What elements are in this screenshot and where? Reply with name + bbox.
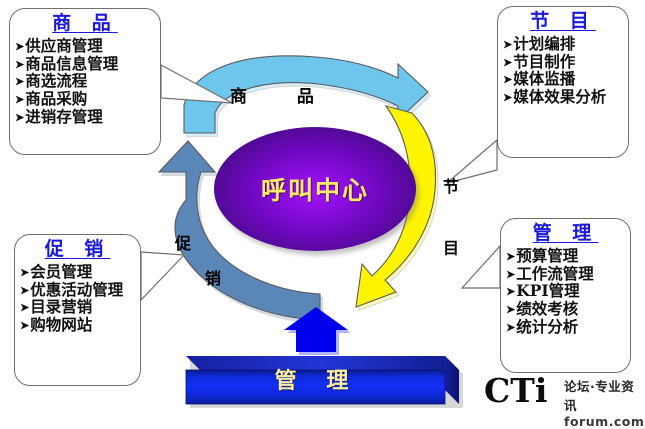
list-item: 目录营销 — [20, 298, 138, 316]
list-item: 商选流程 — [15, 72, 158, 90]
list-item: 媒体监播 — [503, 70, 626, 88]
promotion-arrow-label-1: 促 — [175, 230, 191, 254]
list-item: 计划编排 — [503, 35, 626, 53]
programs-callout-list: 计划编排 节目制作 媒体监播 媒体效果分析 — [498, 35, 628, 106]
management-callout-tail[interactable] — [462, 246, 500, 288]
programs-callout-tail[interactable] — [447, 140, 497, 183]
list-item: 预算管理 — [506, 247, 628, 265]
promotion-callout-title: 促 销 — [15, 239, 140, 261]
products-callout-title: 商 品 — [10, 13, 160, 35]
programs-callout[interactable]: 节 目 计划编排 节目制作 媒体监播 媒体效果分析 — [497, 6, 629, 158]
list-item: KPI管理 — [506, 282, 628, 300]
list-item: 工作流管理 — [506, 265, 628, 283]
management-callout[interactable]: 管 理 预算管理 工作流管理 KPI管理 绩效考核 统计分析 — [500, 218, 631, 373]
management-callout-title: 管 理 — [501, 223, 630, 245]
programs-callout-title: 节 目 — [498, 11, 628, 33]
list-item: 商品采购 — [15, 90, 158, 108]
list-item: 优惠活动管理 — [20, 281, 138, 299]
products-callout[interactable]: 商 品 供应商管理 商品信息管理 商选流程 商品采购 进销存管理 — [9, 8, 161, 155]
list-item: 节目制作 — [503, 53, 626, 71]
watermark-text-group: 论坛·专业资讯 forum.com — [564, 376, 644, 429]
products-arrow-label: 商 品 — [230, 82, 336, 107]
promotion-arrow-label-2: 销 — [205, 265, 221, 289]
promotion-callout[interactable]: 促 销 会员管理 优惠活动管理 目录营销 购物网站 — [14, 234, 141, 386]
watermark-brand: CTi — [484, 374, 547, 407]
programs-arrow-label: 节 目 — [437, 178, 461, 276]
watermark-chinese: 论坛·专业资讯 — [564, 376, 644, 414]
list-item: 统计分析 — [506, 318, 628, 336]
list-item: 媒体效果分析 — [503, 88, 626, 106]
list-item: 购物网站 — [20, 316, 138, 334]
management-callout-list: 预算管理 工作流管理 KPI管理 绩效考核 统计分析 — [501, 247, 630, 336]
list-item: 会员管理 — [20, 263, 138, 281]
watermark-domain: forum.com — [564, 414, 644, 429]
list-item: 进销存管理 — [15, 108, 158, 126]
call-center-label: 呼叫中心 — [214, 127, 416, 251]
promotion-callout-tail[interactable] — [141, 252, 184, 300]
products-callout-list: 供应商管理 商品信息管理 商选流程 商品采购 进销存管理 — [10, 37, 160, 126]
list-item: 供应商管理 — [15, 37, 158, 55]
list-item: 商品信息管理 — [15, 55, 158, 73]
promotion-callout-list: 会员管理 优惠活动管理 目录营销 购物网站 — [15, 263, 140, 334]
list-item: 绩效考核 — [506, 300, 628, 318]
call-center-ellipse: 呼叫中心 — [214, 127, 416, 251]
diagram-canvas: 呼叫中心 商 品 节 目 促 销 管 理 商 品 供应商管理 商品信息管理 商选… — [0, 0, 645, 420]
management-bar-label: 管 理 — [186, 358, 448, 400]
cti-forum-watermark: CTi 论坛·专业资讯 forum.com — [484, 374, 547, 407]
